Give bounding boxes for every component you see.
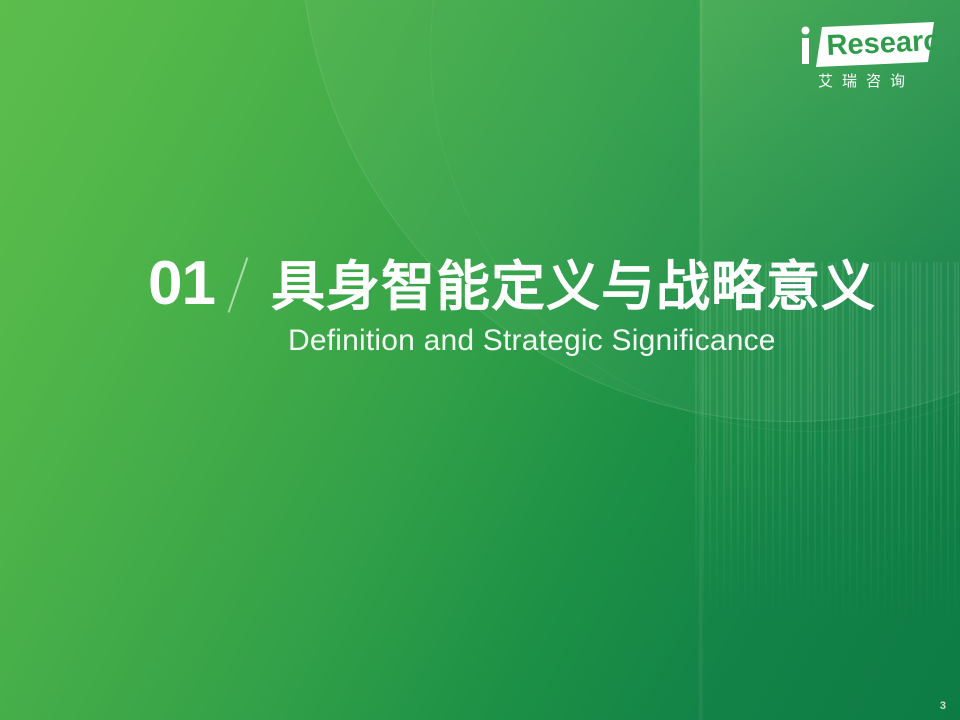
section-title-block: 01 具身智能定义与战略意义 Definition and Strategic … <box>148 252 908 357</box>
page-number: 3 <box>940 701 946 712</box>
iresearch-logo: Research 艾瑞咨询 <box>794 16 936 94</box>
logo-chinese-name: 艾瑞咨询 <box>818 72 914 90</box>
section-title-english: Definition and Strategic Significance <box>288 324 908 357</box>
slide-canvas: Research 艾瑞咨询 01 具身智能定义与战略意义 Definition … <box>0 0 960 720</box>
section-title-chinese: 具身智能定义与战略意义 <box>271 260 876 314</box>
logo-i-dot <box>802 27 810 35</box>
section-number: 01 <box>148 255 215 314</box>
logo-i-stem <box>802 38 809 64</box>
section-title-row: 01 具身智能定义与战略意义 <box>148 252 908 314</box>
section-divider-slash-icon <box>215 252 267 314</box>
logo-wordmark-text: Research <box>826 24 936 62</box>
